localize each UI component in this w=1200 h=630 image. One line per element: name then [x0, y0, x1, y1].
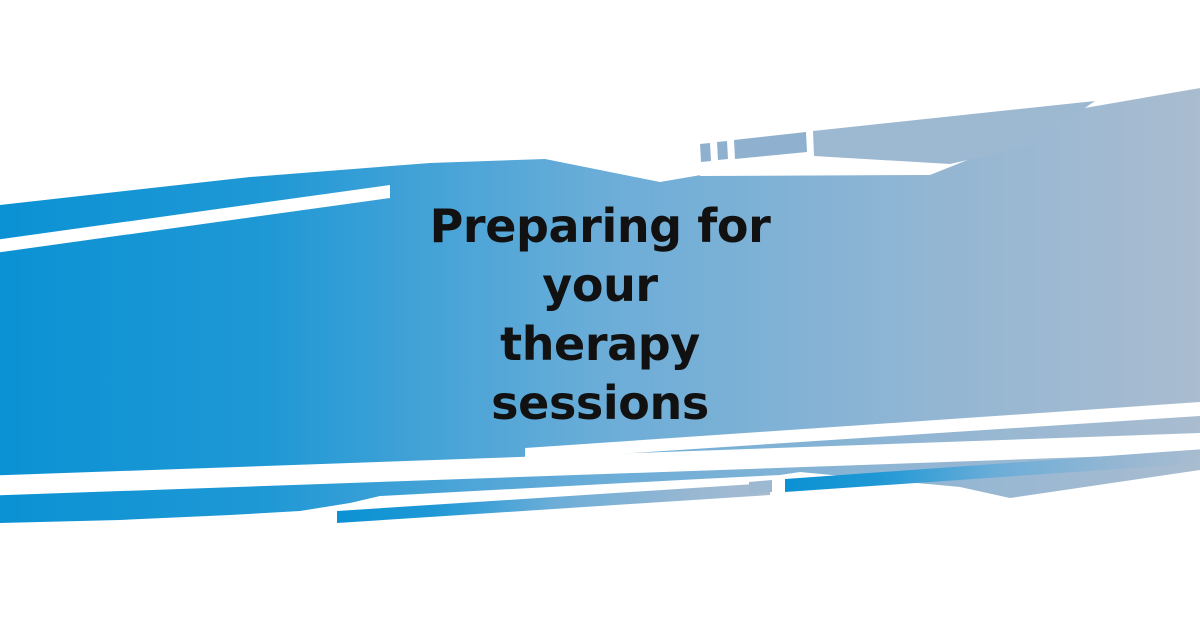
banner-decorative-graphic	[0, 0, 1200, 630]
banner-card: Preparing for your therapy sessions	[0, 0, 1200, 630]
bottom-detached-dash	[749, 480, 772, 494]
top-dash-small-1	[700, 143, 711, 162]
top-dash-small-2	[717, 141, 728, 160]
